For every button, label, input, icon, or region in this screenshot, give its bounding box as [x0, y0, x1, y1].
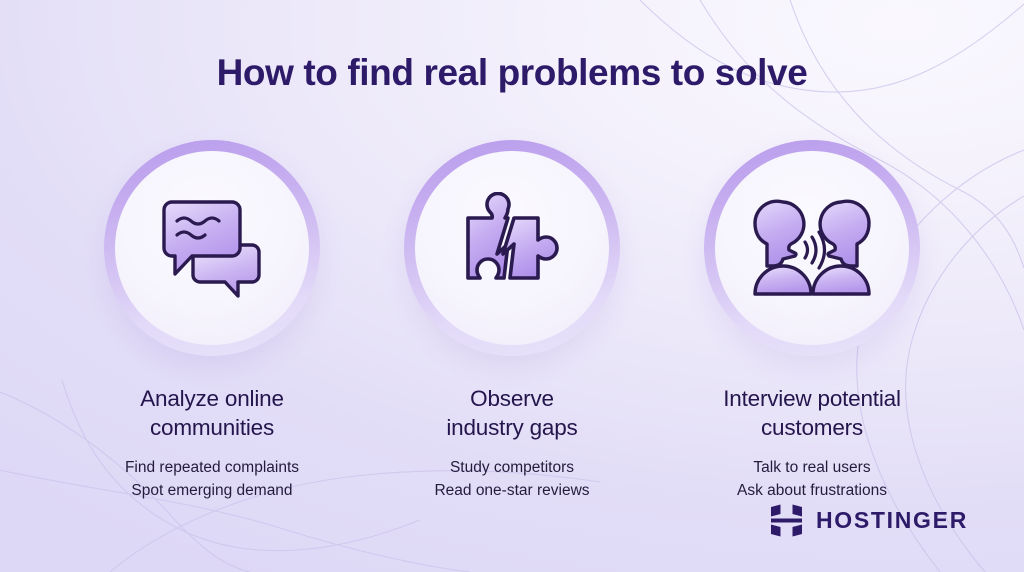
step-heading-2-line2: industry gaps [446, 413, 577, 442]
brand-wordmark: HOSTINGER [816, 507, 968, 534]
icon-badge-3 [704, 140, 920, 356]
step-heading-3-line2: customers [723, 413, 901, 442]
step-subtext-1: Find repeated complaints Spot emerging d… [125, 456, 299, 502]
cracked-puzzle-piece-icon [456, 192, 568, 304]
step-subtext-3-line1: Talk to real users [737, 456, 887, 479]
step-subtext-3: Talk to real users Ask about frustration… [737, 456, 887, 502]
step-column-analyze-online-communities: Analyze online communities Find repeated… [62, 140, 362, 502]
step-heading-3-line1: Interview potential [723, 384, 901, 413]
page-title: How to find real problems to solve [0, 52, 1024, 94]
speech-bubbles-icon [154, 190, 270, 306]
step-subtext-2-line1: Study competitors [434, 456, 589, 479]
infographic-canvas: How to find real problems to solve [0, 0, 1024, 572]
step-subtext-3-line2: Ask about frustrations [737, 479, 887, 502]
step-heading-1-line2: communities [140, 413, 284, 442]
two-people-talking-icon [749, 196, 875, 300]
step-heading-1-line1: Analyze online [140, 384, 284, 413]
steps-row: Analyze online communities Find repeated… [0, 140, 1024, 502]
step-column-interview-potential-customers: Interview potential customers Talk to re… [662, 140, 962, 502]
step-heading-3: Interview potential customers [723, 384, 901, 442]
brand-logo: HOSTINGER [770, 504, 968, 537]
step-subtext-2-line2: Read one-star reviews [434, 479, 589, 502]
hostinger-h-mark-icon [770, 504, 803, 537]
step-heading-2-line1: Observe [446, 384, 577, 413]
icon-badge-2 [404, 140, 620, 356]
icon-badge-1 [104, 140, 320, 356]
step-subtext-2: Study competitors Read one-star reviews [434, 456, 589, 502]
step-subtext-1-line2: Spot emerging demand [125, 479, 299, 502]
step-column-observe-industry-gaps: Observe industry gaps Study competitors … [362, 140, 662, 502]
step-heading-1: Analyze online communities [140, 384, 284, 442]
step-subtext-1-line1: Find repeated complaints [125, 456, 299, 479]
step-heading-2: Observe industry gaps [446, 384, 577, 442]
